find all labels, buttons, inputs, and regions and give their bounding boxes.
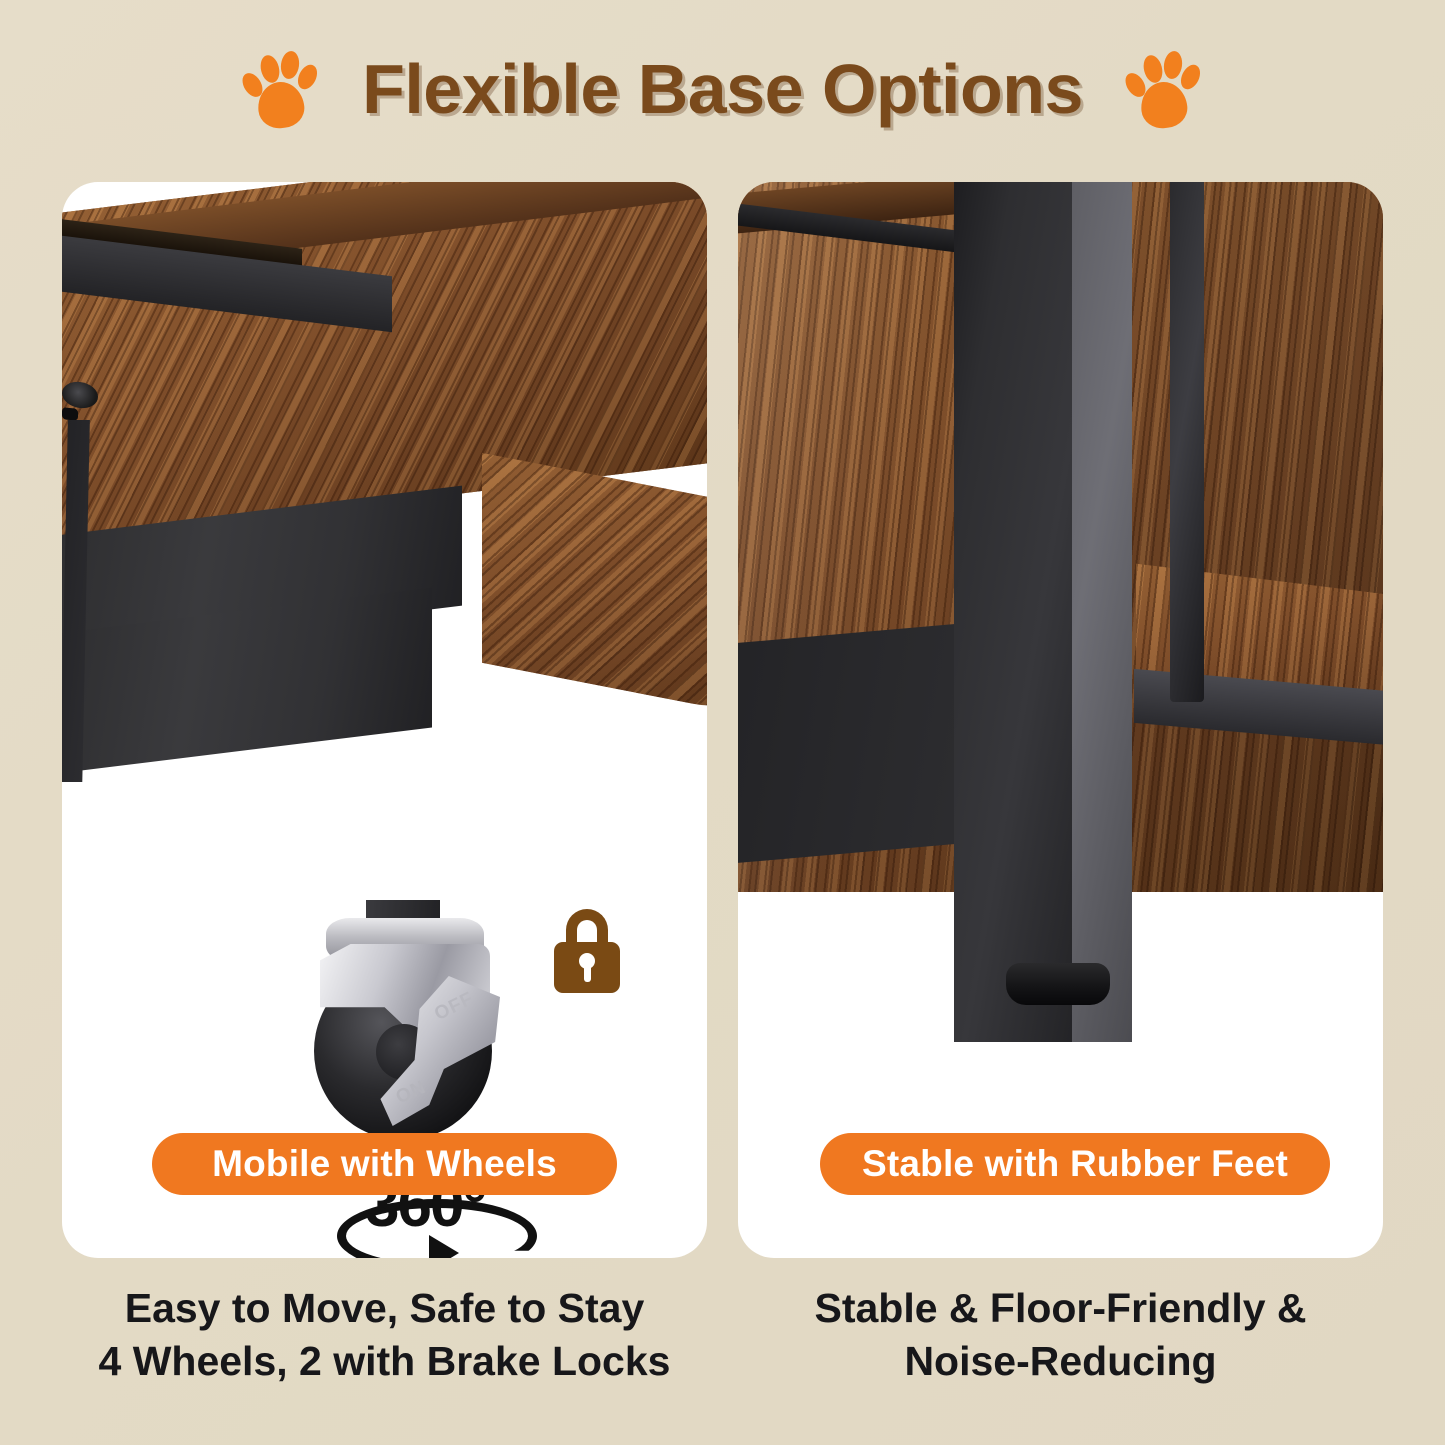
caption-line-2: 4 Wheels, 2 with Brake Locks [62, 1335, 707, 1388]
caption-stable-with-rubber-feet: Stable & Floor-Friendly & Noise-Reducing [738, 1282, 1383, 1389]
feature-panel-mobile-with-wheels: OFF ON 360° [62, 182, 707, 1258]
product-photo-rubber-foot [738, 182, 1383, 1042]
rubber-foot-pad [1006, 963, 1110, 1005]
page-title: Flexible Base Options [362, 54, 1083, 124]
page-header: Flexible Base Options [0, 34, 1445, 144]
paw-print-icon [1127, 46, 1201, 132]
caption-line-1: Easy to Move, Safe to Stay [62, 1282, 707, 1335]
paw-print-icon [244, 46, 318, 132]
caster-wheel-illustration: OFF ON [304, 900, 534, 1155]
caption-line-2: Noise-Reducing [738, 1335, 1383, 1388]
badge-mobile-with-wheels[interactable]: Mobile with Wheels [152, 1133, 617, 1195]
feature-panel-stable-with-rubber-feet [738, 182, 1383, 1258]
caption-line-1: Stable & Floor-Friendly & [738, 1282, 1383, 1335]
caption-mobile-with-wheels: Easy to Move, Safe to Stay 4 Wheels, 2 w… [62, 1282, 707, 1389]
product-photo-caster-wheel [62, 182, 707, 782]
padlock-icon [552, 909, 622, 993]
badge-stable-with-rubber-feet[interactable]: Stable with Rubber Feet [820, 1133, 1330, 1195]
